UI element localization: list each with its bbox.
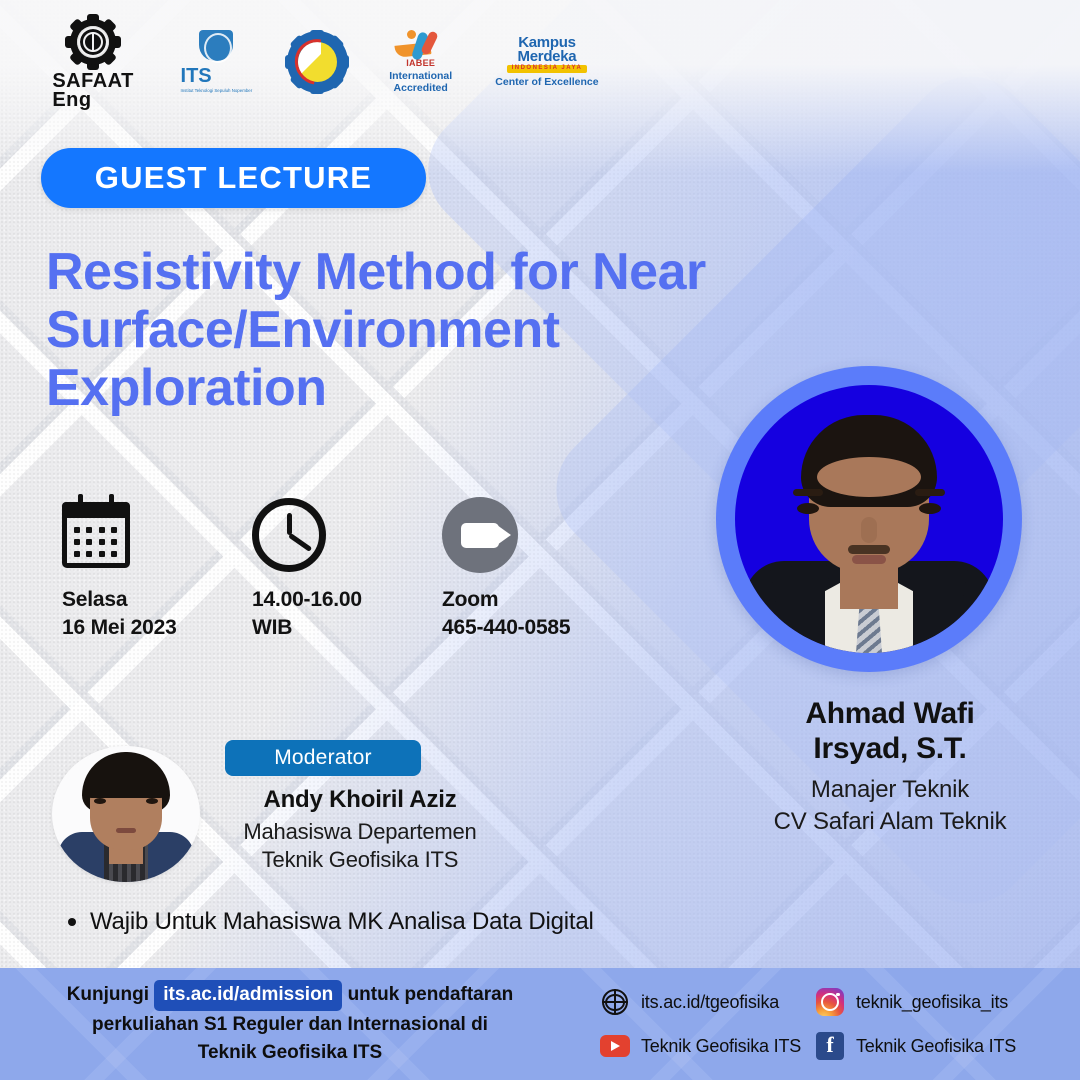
social-website[interactable]: its.ac.id/tgeofisika xyxy=(600,987,815,1017)
event-time-line2: WIB xyxy=(252,614,442,642)
bullet-icon xyxy=(68,918,76,926)
social-facebook[interactable]: f Teknik Geofisika ITS xyxy=(815,1031,1070,1061)
facebook-icon: f xyxy=(815,1031,845,1061)
poster-canvas: SAFAAT Eng ITS Institut Teknologi Sepulu… xyxy=(0,0,1080,1080)
guest-lecture-badge: GUEST LECTURE xyxy=(41,148,426,208)
kampus-merdeka-band: INDONESIA JAYA xyxy=(507,65,588,73)
footer-cta-line3: Teknik Geofisika ITS xyxy=(0,1039,580,1068)
event-date-block: Selasa 16 Mei 2023 xyxy=(62,492,252,641)
its-logo-sub: Institut Teknologi Sepuluh Nopember xyxy=(181,88,253,94)
event-date-line1: Selasa xyxy=(62,586,252,614)
footer-cta: Kunjungi its.ac.id/admission untuk penda… xyxy=(0,980,580,1068)
zoom-camera-icon xyxy=(442,497,518,573)
calendar-icon xyxy=(62,502,130,568)
footer-bar: Kunjungi its.ac.id/admission untuk penda… xyxy=(0,968,1080,1080)
moderator-badge: Moderator xyxy=(225,740,421,776)
event-date-line2: 16 Mei 2023 xyxy=(62,614,252,642)
social-youtube-label: Teknik Geofisika ITS xyxy=(641,1036,801,1057)
page-title: Resistivity Method for Near Surface/Envi… xyxy=(46,243,806,418)
social-instagram[interactable]: teknik_geofisika_its xyxy=(815,987,1070,1017)
safaat-logo-line1: SAFAAT xyxy=(52,72,134,90)
guest-lecture-label: GUEST LECTURE xyxy=(95,160,372,196)
gear-icon xyxy=(66,15,120,69)
moderator-desc-line2: Teknik Geofisika ITS xyxy=(150,846,570,874)
social-instagram-label: teknik_geofisika_its xyxy=(856,992,1008,1013)
footer-cta-pre: Kunjungi xyxy=(67,984,149,1005)
admission-url-pill[interactable]: its.ac.id/admission xyxy=(154,980,342,1011)
instagram-icon xyxy=(815,987,845,1017)
speaker-role-line1: Manajer Teknik xyxy=(700,774,1080,806)
event-platform-line1: Zoom xyxy=(442,586,632,614)
speaker-name-line1: Ahmad Wafi xyxy=(700,696,1080,731)
footer-cta-line2: perkuliahan S1 Reguler dan Internasional… xyxy=(0,1011,580,1040)
speaker-name: Ahmad Wafi Irsyad, S.T. xyxy=(700,696,1080,766)
its-shield-icon xyxy=(199,30,233,61)
its-logo: ITS Institut Teknologi Sepuluh Nopember xyxy=(172,30,260,94)
kampus-merdeka-logo: Kampus Merdeka INDONESIA JAYA Center of … xyxy=(494,36,600,88)
social-facebook-label: Teknik Geofisika ITS xyxy=(856,1036,1016,1057)
social-website-label: its.ac.id/tgeofisika xyxy=(641,992,779,1013)
event-time-block: 14.00-16.00 WIB xyxy=(252,492,442,641)
globe-icon xyxy=(80,29,106,55)
youtube-icon xyxy=(600,1031,630,1061)
event-info-row: Selasa 16 Mei 2023 14.00-16.00 WIB Zoom … xyxy=(62,492,682,641)
speaker-role: Manajer Teknik CV Safari Alam Teknik xyxy=(700,774,1080,838)
iabee-caption: International Accredited xyxy=(389,70,452,94)
attendance-note: Wajib Untuk Mahasiswa MK Analisa Data Di… xyxy=(68,908,594,936)
moderator-name: Andy Khoiril Aziz xyxy=(150,786,570,814)
moderator-description: Mahasiswa Departemen Teknik Geofisika IT… xyxy=(150,818,570,874)
logo-row: SAFAAT Eng ITS Institut Teknologi Sepulu… xyxy=(40,22,600,102)
globe-icon xyxy=(600,987,630,1017)
footer-socials: its.ac.id/tgeofisika teknik_geofisika_it… xyxy=(600,982,1070,1066)
speaker-role-line2: CV Safari Alam Teknik xyxy=(700,806,1080,838)
safaat-logo-line2: Eng xyxy=(52,91,134,109)
social-youtube[interactable]: Teknik Geofisika ITS xyxy=(600,1031,815,1061)
moderator-desc-line1: Mahasiswa Departemen xyxy=(150,818,570,846)
iabee-mark-icon xyxy=(395,30,447,62)
safaat-eng-logo: SAFAAT Eng xyxy=(40,31,146,93)
speaker-avatar xyxy=(716,366,1022,672)
speaker-name-line2: Irsyad, S.T. xyxy=(700,731,1080,766)
its-logo-abbr: ITS xyxy=(181,66,253,86)
kampus-merdeka-line2: Merdeka xyxy=(518,50,577,64)
attendance-note-text: Wajib Untuk Mahasiswa MK Analisa Data Di… xyxy=(90,908,594,936)
moderator-badge-label: Moderator xyxy=(274,746,372,770)
event-platform-line2: 465-440-0585 xyxy=(442,614,632,642)
teknik-geofisika-logo xyxy=(287,31,348,93)
event-platform-block: Zoom 465-440-0585 xyxy=(442,492,632,641)
footer-cta-post: untuk pendaftaran xyxy=(348,984,514,1005)
clock-icon xyxy=(252,498,326,572)
event-time-line1: 14.00-16.00 xyxy=(252,586,442,614)
kampus-merdeka-caption: Center of Excellence xyxy=(495,76,598,88)
iabee-logo: IABEE International Accredited xyxy=(374,30,468,94)
